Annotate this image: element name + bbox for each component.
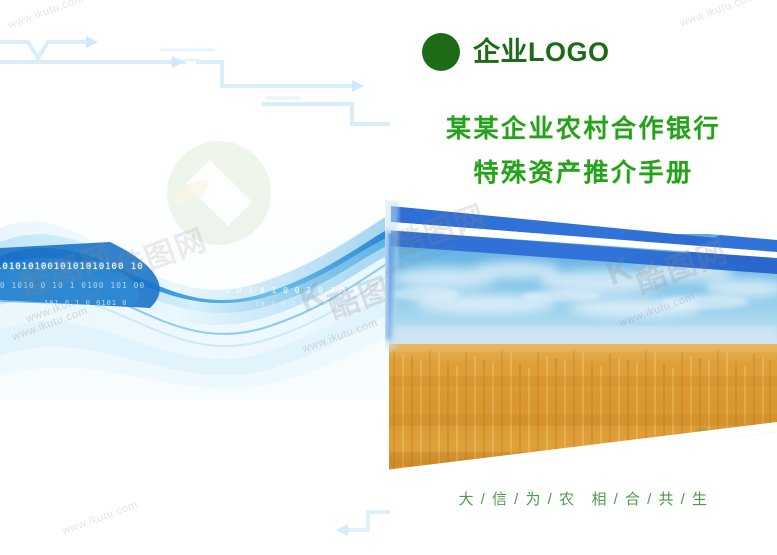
slogan-left: 大 / 信 / 为 / 农 — [458, 491, 575, 508]
wheat-field-illustration — [385, 200, 777, 477]
front-cover-panel: 企业LOGO 某某企业农村合作银行 特殊资产推介手册 — [390, 0, 777, 555]
back-cover-panel: 10101010010101010100 10 10 1010 0 10 1 0… — [0, 0, 390, 555]
wheat-field-photo: K 酷图网 www.ikutu.com 酷图网 www.ikutu.com — [385, 200, 777, 477]
company-logo: 企业LOGO — [422, 33, 610, 71]
watermark-url: www.ikutu.com — [678, 0, 757, 29]
cover-title-line-1: 某某企业农村合作银行 — [390, 108, 777, 152]
brochure-cover-page: 10101010010101010100 10 10 1010 0 10 1 0… — [0, 0, 777, 555]
cover-title: 某某企业农村合作银行 特殊资产推介手册 — [390, 108, 777, 196]
blue-wave-ribbon-graphic — [0, 170, 390, 400]
slogan-right: 相 / 合 / 共 / 生 — [592, 491, 709, 508]
circle-logo-mark-icon — [422, 33, 460, 71]
company-logo-label: 企业LOGO — [473, 39, 610, 66]
cover-slogan: 大 / 信 / 为 / 农相 / 合 / 共 / 生 — [390, 488, 777, 509]
cover-title-line-2: 特殊资产推介手册 — [390, 152, 777, 196]
